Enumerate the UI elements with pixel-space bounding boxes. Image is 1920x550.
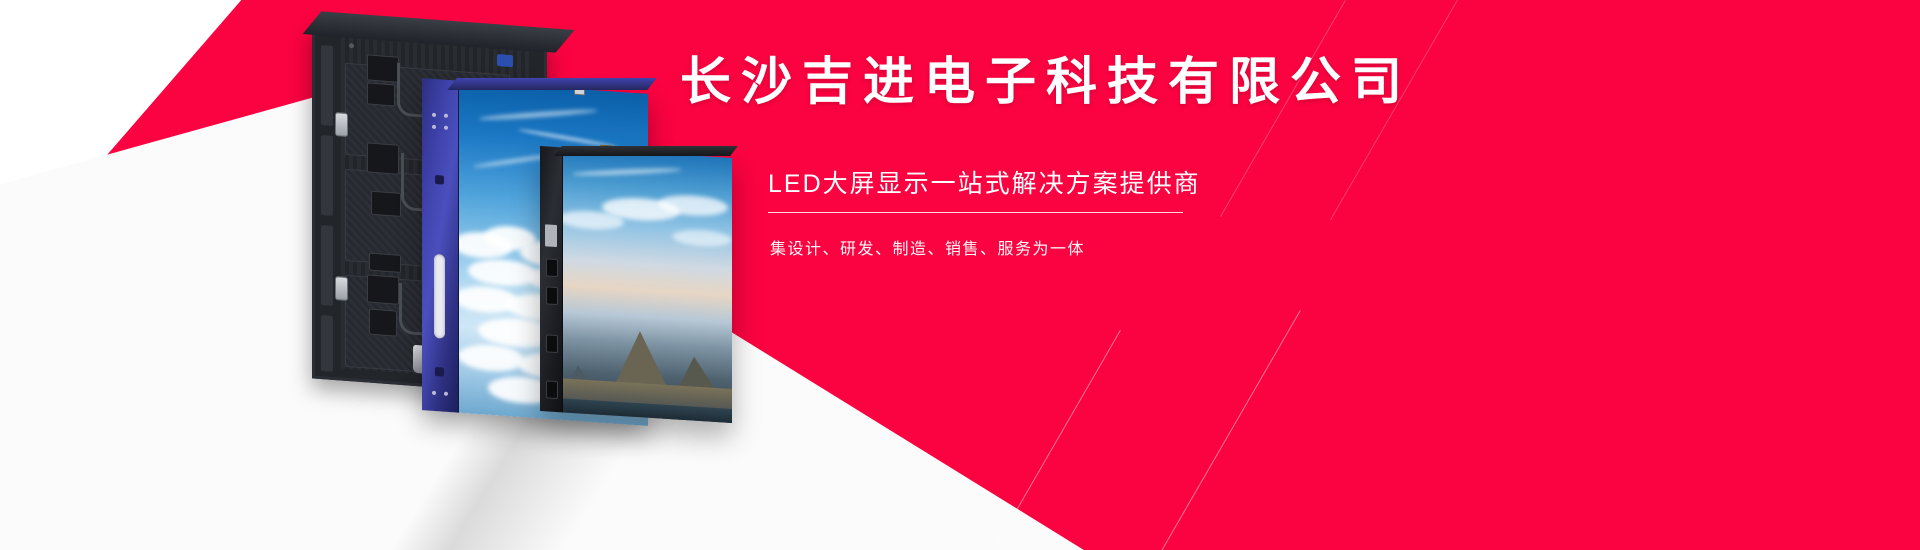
blue-connector	[497, 54, 513, 67]
panel-port	[546, 286, 558, 305]
subtitle-divider	[768, 212, 1183, 213]
receiving-card-box	[367, 82, 395, 106]
power-connector	[335, 112, 348, 137]
subtitle-block: LED大屏显示一站式解决方案提供商	[680, 164, 1320, 213]
receiving-card-box	[371, 191, 401, 217]
cabinet-rail	[321, 225, 333, 306]
banner-subtitle: LED大屏显示一站式解决方案提供商	[768, 164, 1320, 200]
panel-port	[546, 334, 558, 353]
panel-port	[546, 258, 558, 277]
panel-black-side-bezel	[540, 146, 563, 412]
company-title: 长沙吉进电子科技有限公司	[680, 52, 1320, 112]
power-connector	[335, 276, 348, 301]
panel-blue-side-bezel	[422, 78, 459, 413]
power-supply-box	[369, 309, 397, 337]
power-supply-box	[367, 142, 399, 174]
panel-port	[546, 380, 558, 399]
power-supply-box	[367, 54, 399, 82]
panel-top-edge	[447, 78, 656, 90]
panel-spec-label	[545, 224, 557, 247]
panel-handle[interactable]	[434, 254, 445, 339]
cabinet-rail	[321, 45, 333, 126]
cabinet-rail	[321, 135, 333, 216]
power-supply-box	[367, 274, 399, 304]
hero-banner: 长沙吉进电子科技有限公司 LED大屏显示一站式解决方案提供商 集设计、研发、制造…	[0, 0, 1920, 550]
panel-vent	[435, 175, 444, 185]
panel-vent	[435, 367, 444, 377]
cabinet-rail	[321, 315, 333, 372]
banner-tagline: 集设计、研发、制造、销售、服务为一体	[770, 235, 1320, 259]
banner-copy: 长沙吉进电子科技有限公司 LED大屏显示一站式解决方案提供商 集设计、研发、制造…	[680, 52, 1320, 259]
hub-card-box	[369, 253, 401, 273]
